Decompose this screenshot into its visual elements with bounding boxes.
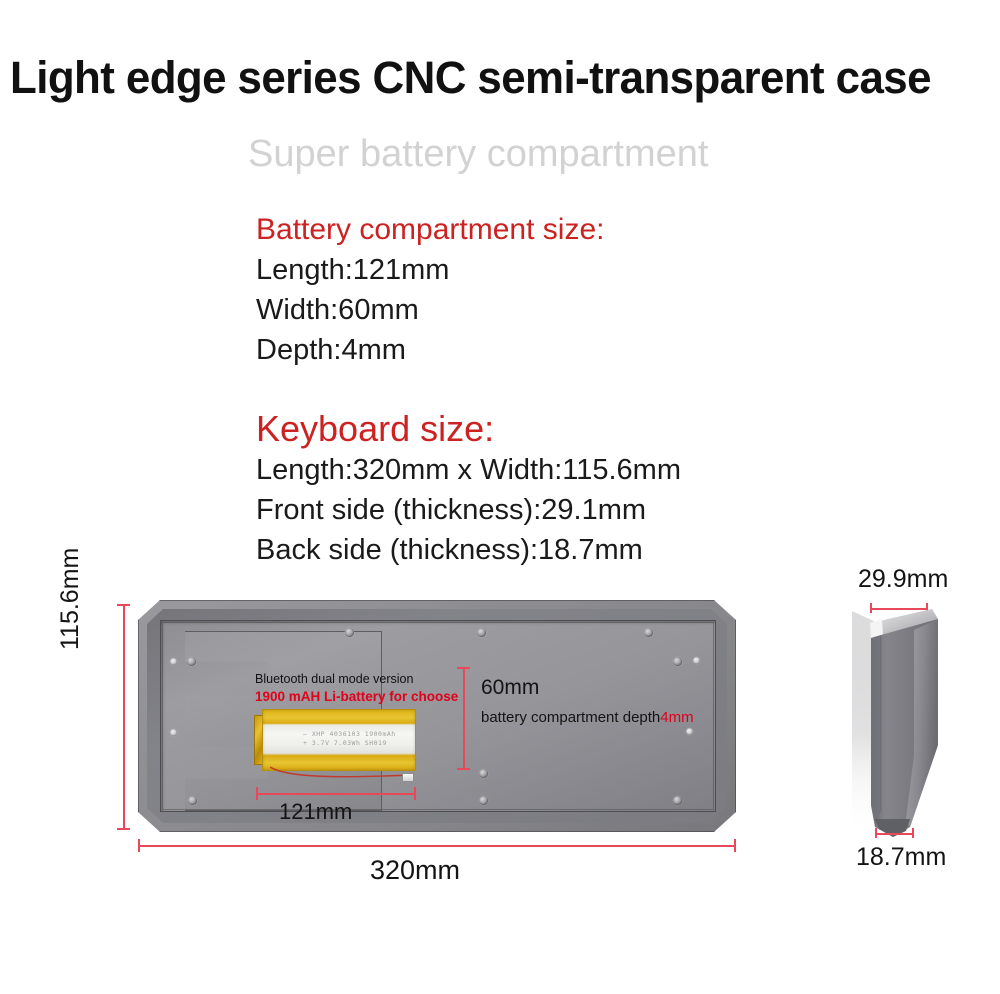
dimension-label-case-length: 320mm	[370, 855, 460, 886]
screw-hole	[673, 657, 682, 666]
battery-compartment-spec-length: Length:121mm	[256, 250, 604, 290]
depth-label-value: 4mm	[660, 709, 693, 726]
dimension-tick-bottom	[117, 828, 130, 830]
screw-hole	[693, 657, 700, 664]
battery-compartment-spec-depth: Depth:4mm	[256, 330, 604, 370]
dimension-tick-top	[457, 667, 470, 669]
dimension-label-back-thickness: 18.7mm	[856, 843, 946, 872]
screw-hole	[479, 796, 488, 805]
page-subtitle: Super battery compartment	[248, 133, 708, 176]
battery-connector	[402, 773, 414, 782]
battery-print-line-2: + 3.7V 7.03Wh SH019	[303, 739, 413, 748]
case-profile-art	[848, 605, 948, 840]
keyboard-spec-front-thickness: Front side (thickness):29.1mm	[256, 490, 681, 530]
keyboard-spec-block: Keyboard size: Length:320mm x Width:115.…	[256, 408, 681, 570]
dimension-tick-right	[414, 787, 416, 800]
keyboard-case-sideview-diagram: 29.9mm	[848, 565, 988, 885]
dimension-label-front-thickness: 29.9mm	[858, 565, 948, 594]
screw-hole	[479, 769, 488, 778]
screw-hole	[170, 658, 177, 665]
screw-hole	[477, 628, 486, 637]
dimension-line-compartment-length	[256, 793, 415, 795]
screw-hole	[644, 628, 653, 637]
keyboard-case-topview-diagram: — XHP 4036103 1900mAh + 3.7V 7.03Wh SH01…	[138, 600, 736, 832]
case-inner-cavity: — XHP 4036103 1900mAh + 3.7V 7.03Wh SH01…	[160, 620, 716, 812]
dimension-label-compartment-width: 60mm	[481, 676, 539, 700]
battery-wire	[270, 766, 410, 780]
dimension-line-case-length	[138, 845, 736, 847]
keyboard-spec-dimensions: Length:320mm x Width:115.6mm	[256, 450, 681, 490]
battery-body: — XHP 4036103 1900mAh + 3.7V 7.03Wh SH01…	[262, 709, 416, 771]
screw-hole	[170, 729, 177, 736]
screw-hole	[188, 796, 197, 805]
dimension-tick-right	[912, 828, 914, 838]
dimension-tick-left	[256, 787, 258, 800]
dimension-tick-left	[875, 828, 877, 838]
depth-label-prefix: battery compartment depth	[481, 709, 660, 726]
battery-print-line-1: — XHP 4036103 1900mAh	[303, 730, 413, 739]
dimension-label-case-width: 115.6mm	[56, 548, 85, 650]
battery-label-print: — XHP 4036103 1900mAh + 3.7V 7.03Wh SH01…	[303, 730, 413, 748]
screw-hole	[673, 796, 682, 805]
dimension-label-compartment-depth: battery compartment depth4mm	[481, 709, 694, 726]
screw-hole	[345, 628, 354, 637]
callout-battery-capacity: 1900 mAH Li-battery for choose	[255, 689, 458, 704]
dimension-line-back-thickness	[875, 833, 913, 835]
lithium-battery: — XHP 4036103 1900mAh + 3.7V 7.03Wh SH01…	[254, 709, 414, 769]
dimension-tick-left	[138, 839, 140, 852]
screw-hole	[187, 657, 196, 666]
dimension-line-compartment-width	[463, 667, 465, 769]
dimension-tick-right	[734, 839, 736, 852]
callout-bluetooth-version: Bluetooth dual mode version	[255, 672, 413, 686]
dimension-tick-top	[117, 604, 130, 606]
keyboard-spec-heading: Keyboard size:	[256, 408, 681, 450]
dimension-tick-bottom	[457, 768, 470, 770]
screw-hole	[686, 728, 693, 735]
dimension-label-compartment-length: 121mm	[279, 799, 352, 825]
battery-compartment-spec-heading: Battery compartment size:	[256, 210, 604, 250]
battery-compartment-spec-width: Width:60mm	[256, 290, 604, 330]
dimension-line-case-width	[123, 604, 125, 830]
page-title: Light edge series CNC semi-transparent c…	[10, 52, 931, 104]
keyboard-spec-back-thickness: Back side (thickness):18.7mm	[256, 530, 681, 570]
battery-compartment-spec-block: Battery compartment size: Length:121mm W…	[256, 210, 604, 370]
